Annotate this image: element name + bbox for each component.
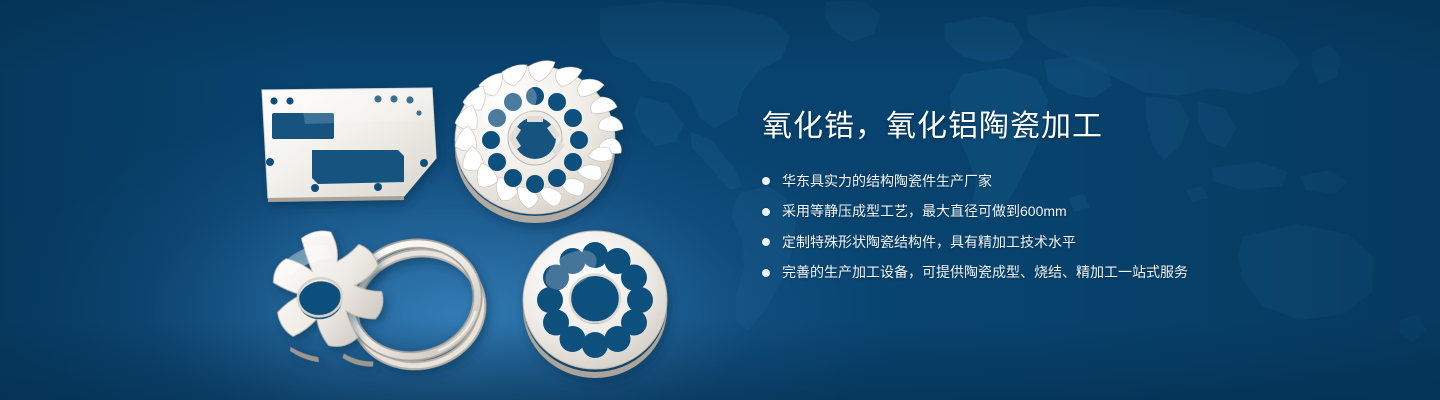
bullet-dot-icon bbox=[762, 177, 770, 185]
feature-text: 完善的生产加工设备，可提供陶瓷成型、烧结、精加工一站式服务 bbox=[782, 263, 1188, 283]
ceramic-products-image bbox=[0, 0, 720, 400]
feature-text: 定制特殊形状陶瓷结构件，具有精加工技术水平 bbox=[782, 233, 1076, 253]
feature-item: 定制特殊形状陶瓷结构件，具有精加工技术水平 bbox=[762, 233, 1382, 253]
feature-item: 采用等静压成型工艺，最大直径可做到600mm bbox=[762, 202, 1382, 222]
banner-feature-list: 华东具实力的结构陶瓷件生产厂家 采用等静压成型工艺，最大直径可做到600mm 定… bbox=[762, 172, 1382, 283]
ceramic-plate bbox=[262, 88, 436, 202]
banner-text-block: 氧化锆，氧化铝陶瓷加工 华东具实力的结构陶瓷件生产厂家 采用等静压成型工艺，最大… bbox=[762, 108, 1382, 283]
hero-banner: 氧化锆，氧化铝陶瓷加工 华东具实力的结构陶瓷件生产厂家 采用等静压成型工艺，最大… bbox=[0, 0, 1440, 400]
bullet-dot-icon bbox=[762, 269, 770, 277]
feature-item: 华东具实力的结构陶瓷件生产厂家 bbox=[762, 172, 1382, 192]
bullet-dot-icon bbox=[762, 208, 770, 216]
banner-headline: 氧化锆，氧化铝陶瓷加工 bbox=[762, 108, 1382, 146]
ceramic-perforated-disc bbox=[523, 231, 667, 378]
bullet-dot-icon bbox=[762, 238, 770, 246]
feature-item: 完善的生产加工设备，可提供陶瓷成型、烧结、精加工一站式服务 bbox=[762, 263, 1382, 283]
feature-text: 华东具实力的结构陶瓷件生产厂家 bbox=[782, 172, 992, 192]
ceramic-impeller bbox=[455, 61, 623, 223]
feature-text: 采用等静压成型工艺，最大直径可做到600mm bbox=[782, 202, 1067, 222]
